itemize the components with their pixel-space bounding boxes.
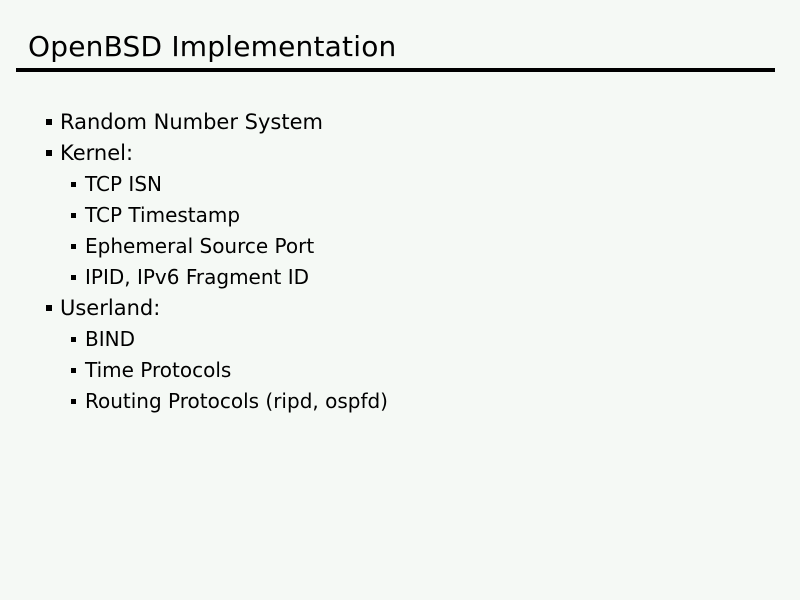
list-item: Kernel: [46, 141, 766, 172]
slide-title-block: OpenBSD Implementation [16, 30, 776, 72]
list-item-label: TCP Timestamp [85, 203, 240, 227]
list-item-label: Ephemeral Source Port [85, 234, 314, 258]
list-item: Random Number System [46, 110, 766, 141]
list-item-label: BIND [85, 327, 135, 351]
list-item: Routing Protocols (ripd, ospfd) [71, 389, 766, 420]
list-item-label: Userland: [60, 296, 160, 320]
slide-bullet-list: Random Number SystemKernel:TCP ISNTCP Ti… [46, 110, 766, 420]
list-item-label: Kernel: [60, 141, 133, 165]
list-item-label: Time Protocols [85, 358, 231, 382]
list-item: Ephemeral Source Port [71, 234, 766, 265]
list-item: TCP ISN [71, 172, 766, 203]
small-square-bullet-icon [71, 327, 85, 351]
list-item: IPID, IPv6 Fragment ID [71, 265, 766, 296]
square-bullet-icon [46, 141, 60, 165]
small-square-bullet-icon [71, 389, 85, 413]
list-item: Time Protocols [71, 358, 766, 389]
list-item-label: Routing Protocols (ripd, ospfd) [85, 389, 388, 413]
small-square-bullet-icon [71, 172, 85, 196]
page-title: OpenBSD Implementation [16, 30, 776, 64]
title-underline-rule [16, 68, 775, 72]
list-item: BIND [71, 327, 766, 358]
list-item-label: Random Number System [60, 110, 323, 134]
square-bullet-icon [46, 110, 60, 134]
small-square-bullet-icon [71, 203, 85, 227]
small-square-bullet-icon [71, 265, 85, 289]
list-item-label: TCP ISN [85, 172, 162, 196]
list-item: TCP Timestamp [71, 203, 766, 234]
square-bullet-icon [46, 296, 60, 320]
list-item-label: IPID, IPv6 Fragment ID [85, 265, 309, 289]
presentation-slide: OpenBSD Implementation Random Number Sys… [0, 0, 800, 600]
small-square-bullet-icon [71, 358, 85, 382]
small-square-bullet-icon [71, 234, 85, 258]
list-item: Userland: [46, 296, 766, 327]
